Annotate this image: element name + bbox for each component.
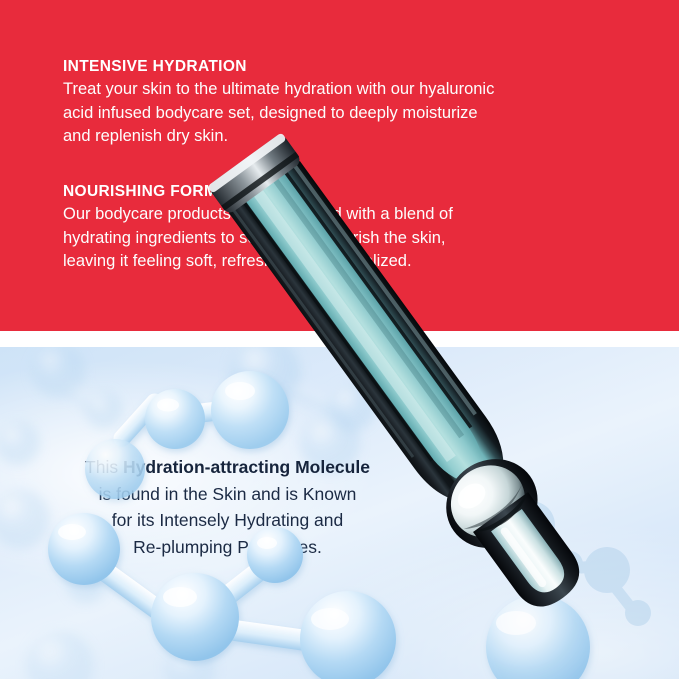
benefit-heading: NOURISHING FORMULATION — [63, 182, 623, 201]
foreground-molecules-layer — [0, 347, 679, 679]
benefit-body: Our bodycare products are formulated wit… — [63, 203, 623, 273]
molecule-blue-panel: This Hydration-attracting Molecule is fo… — [0, 347, 679, 679]
panel-divider — [0, 331, 679, 347]
molecule-upper-pair — [85, 371, 289, 499]
product-infographic-page: INTENSIVE HYDRATION Treat your skin to t… — [0, 0, 679, 679]
benefit-body: Treat your skin to the ultimate hydratio… — [63, 78, 623, 148]
benefit-heading: INTENSIVE HYDRATION — [63, 57, 623, 76]
benefit-block-intensive-hydration: INTENSIVE HYDRATION Treat your skin to t… — [63, 57, 623, 149]
benefits-red-panel: INTENSIVE HYDRATION Treat your skin to t… — [0, 0, 679, 331]
benefit-block-nourishing-formulation: NOURISHING FORMULATION Our bodycare prod… — [63, 182, 623, 274]
molecule-right-lower — [486, 595, 590, 679]
molecule-lower-cluster — [48, 513, 396, 679]
